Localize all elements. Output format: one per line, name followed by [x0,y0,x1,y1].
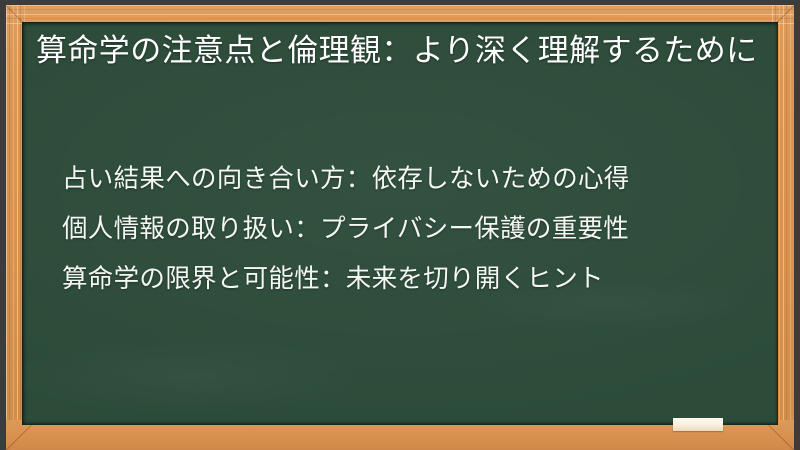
bullet-item-1: 占い結果への向き合い方：依存しないための心得 [62,154,762,204]
chalk-stick-icon [673,418,723,431]
slide-title: 算命学の注意点と倫理観：より深く理解するために [36,30,764,73]
bullet-item-2: 個人情報の取り扱い：プライバシー保護の重要性 [62,204,762,254]
wooden-frame: 算命学の注意点と倫理観：より深く理解するために 占い結果への向き合い方：依存しな… [6,5,794,450]
slide-bullet-list: 占い結果への向き合い方：依存しないための心得 個人情報の取り扱い：プライバシー保… [62,154,762,304]
chalkboard-surface: 算命学の注意点と倫理観：より深く理解するために 占い結果への向き合い方：依存しな… [22,22,778,425]
blackboard-slide: 算命学の注意点と倫理観：より深く理解するために 占い結果への向き合い方：依存しな… [0,0,800,450]
bullet-item-3: 算命学の限界と可能性：未来を切り開くヒント [62,254,762,304]
